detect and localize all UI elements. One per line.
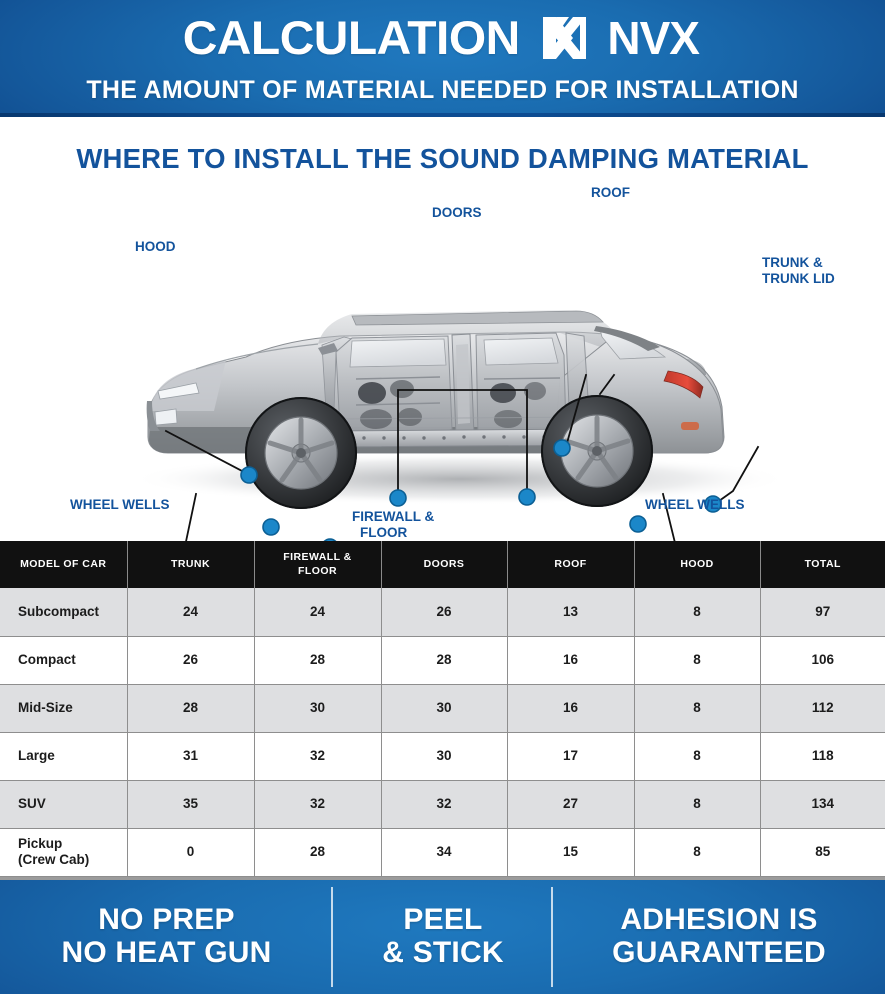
footer-cell-peel-stick: PEEL & STICK bbox=[333, 880, 553, 994]
cell-total: 106 bbox=[760, 636, 885, 684]
a-pillar-dot bbox=[322, 539, 338, 541]
page-header: CALCULATION NVX THE AMOUN bbox=[0, 0, 885, 117]
cell-doors: 34 bbox=[381, 828, 507, 876]
cell-total: 97 bbox=[760, 588, 885, 636]
col-header-roof: ROOF bbox=[507, 541, 634, 588]
cell-roof: 16 bbox=[507, 636, 634, 684]
cell-trunk: 0 bbox=[127, 828, 254, 876]
cell-roof: 13 bbox=[507, 588, 634, 636]
page-title: CALCULATION bbox=[183, 14, 520, 61]
cell-total: 118 bbox=[760, 732, 885, 780]
cell-trunk: 31 bbox=[127, 732, 254, 780]
rear-door-dot bbox=[519, 489, 535, 505]
cell-model: Large bbox=[0, 732, 127, 780]
table-row: SUV 35 32 32 27 8 134 bbox=[0, 780, 885, 828]
material-table-wrapper: MODEL OF CAR TRUNK FIREWALL & FLOOR DOOR… bbox=[0, 541, 885, 877]
cell-firewall-floor: 28 bbox=[254, 636, 381, 684]
front-door-dot bbox=[390, 490, 406, 506]
header-subtitle: THE AMOUNT OF MATERIAL NEEDED FOR INSTAL… bbox=[0, 78, 885, 103]
footer-peel-line1: PEEL bbox=[382, 904, 503, 936]
cell-doors: 30 bbox=[381, 732, 507, 780]
cell-hood: 8 bbox=[634, 588, 760, 636]
cell-trunk: 35 bbox=[127, 780, 254, 828]
front-fender-dot bbox=[263, 519, 279, 535]
cell-firewall-floor: 24 bbox=[254, 588, 381, 636]
cell-trunk: 26 bbox=[127, 636, 254, 684]
table-row: Mid-Size 28 30 30 16 8 112 bbox=[0, 684, 885, 732]
callout-firewall-line2: FLOOR bbox=[360, 525, 407, 540]
cell-firewall-floor: 28 bbox=[254, 828, 381, 876]
cell-trunk: 28 bbox=[127, 684, 254, 732]
table-row: Pickup (Crew Cab) 0 28 34 15 8 85 bbox=[0, 828, 885, 876]
col-header-hood: HOOD bbox=[634, 541, 760, 588]
table-row: Large 31 32 30 17 8 118 bbox=[0, 732, 885, 780]
cell-trunk: 24 bbox=[127, 588, 254, 636]
x-logo-icon bbox=[542, 15, 604, 61]
table-row: Compact 26 28 28 16 8 106 bbox=[0, 636, 885, 684]
cell-total: 134 bbox=[760, 780, 885, 828]
callout-hood: HOOD bbox=[135, 239, 176, 254]
cell-total: 85 bbox=[760, 828, 885, 876]
col-header-model: MODEL OF CAR bbox=[0, 541, 127, 588]
cell-doors: 28 bbox=[381, 636, 507, 684]
footer-peel-line2: & STICK bbox=[382, 937, 503, 969]
col-header-firewall-line2: FLOOR bbox=[298, 565, 337, 577]
cell-model: Pickup (Crew Cab) bbox=[0, 828, 127, 876]
footer-no-prep-line2: NO HEAT GUN bbox=[62, 937, 272, 969]
col-header-total: TOTAL bbox=[760, 541, 885, 588]
header-title-row: CALCULATION NVX bbox=[0, 14, 885, 61]
callout-wheel-wells-rear: WHEEL WELLS bbox=[645, 497, 745, 512]
cell-doors: 30 bbox=[381, 684, 507, 732]
cell-hood: 8 bbox=[634, 732, 760, 780]
brand-logo: NVX bbox=[542, 15, 699, 61]
cell-roof: 16 bbox=[507, 684, 634, 732]
footer-cell-no-prep: NO PREP NO HEAT GUN bbox=[0, 880, 333, 994]
rear-fender-dot bbox=[630, 516, 646, 532]
footer-cell-adhesion: ADHESION IS GUARANTEED bbox=[553, 880, 885, 994]
callout-trunk-line2: TRUNK LID bbox=[762, 271, 835, 286]
page-footer: NO PREP NO HEAT GUN PEEL & STICK ADHESIO… bbox=[0, 877, 885, 994]
callout-firewall-line1: FIREWALL & bbox=[352, 509, 434, 524]
cell-model: Compact bbox=[0, 636, 127, 684]
cell-hood: 8 bbox=[634, 828, 760, 876]
col-header-firewall-line1: FIREWALL & bbox=[283, 551, 351, 563]
infographic-page: CALCULATION NVX THE AMOUN bbox=[0, 0, 885, 1000]
cell-model-line1: Pickup bbox=[18, 836, 62, 851]
cell-doors: 32 bbox=[381, 780, 507, 828]
cell-firewall-floor: 32 bbox=[254, 780, 381, 828]
cell-model: Mid-Size bbox=[0, 684, 127, 732]
callout-doors: DOORS bbox=[432, 205, 482, 220]
callout-wheel-wells-front: WHEEL WELLS bbox=[70, 497, 170, 512]
cell-roof: 15 bbox=[507, 828, 634, 876]
col-header-firewall-floor: FIREWALL & FLOOR bbox=[254, 541, 381, 588]
cell-firewall-floor: 32 bbox=[254, 732, 381, 780]
table-row: Subcompact 24 24 26 13 8 97 bbox=[0, 588, 885, 636]
cell-hood: 8 bbox=[634, 780, 760, 828]
cell-model: Subcompact bbox=[0, 588, 127, 636]
hood-dot bbox=[241, 467, 257, 483]
fog-light bbox=[155, 409, 177, 425]
cell-firewall-floor: 30 bbox=[254, 684, 381, 732]
table-header-row: MODEL OF CAR TRUNK FIREWALL & FLOOR DOOR… bbox=[0, 541, 885, 588]
section-title: WHERE TO INSTALL THE SOUND DAMPING MATER… bbox=[0, 143, 885, 175]
footer-adhesion-line2: GUARANTEED bbox=[612, 937, 826, 969]
footer-adhesion-line1: ADHESION IS bbox=[612, 904, 826, 936]
table-header: MODEL OF CAR TRUNK FIREWALL & FLOOR DOOR… bbox=[0, 541, 885, 588]
cell-doors: 26 bbox=[381, 588, 507, 636]
cell-model-line2: (Crew Cab) bbox=[18, 852, 89, 867]
cell-roof: 17 bbox=[507, 732, 634, 780]
callout-trunk-line1: TRUNK & bbox=[762, 255, 823, 270]
table-body: Subcompact 24 24 26 13 8 97 Compact 26 2… bbox=[0, 588, 885, 876]
material-calculation-table: MODEL OF CAR TRUNK FIREWALL & FLOOR DOOR… bbox=[0, 541, 885, 877]
front-wheel bbox=[245, 397, 357, 509]
footer-no-prep-line1: NO PREP bbox=[62, 904, 272, 936]
roof-dot bbox=[554, 440, 570, 456]
col-header-trunk: TRUNK bbox=[127, 541, 254, 588]
cell-model: SUV bbox=[0, 780, 127, 828]
callout-roof: ROOF bbox=[591, 185, 630, 200]
cell-hood: 8 bbox=[634, 684, 760, 732]
brand-name: NVX bbox=[607, 15, 699, 61]
col-header-doors: DOORS bbox=[381, 541, 507, 588]
cell-total: 112 bbox=[760, 684, 885, 732]
car-illustration-svg: HOOD DOORS ROOF TRUNK & TRUNK LID WHEEL … bbox=[0, 179, 885, 541]
car-diagram: HOOD DOORS ROOF TRUNK & TRUNK LID WHEEL … bbox=[0, 179, 885, 541]
rear-reflector bbox=[681, 422, 699, 430]
cell-hood: 8 bbox=[634, 636, 760, 684]
cell-roof: 27 bbox=[507, 780, 634, 828]
